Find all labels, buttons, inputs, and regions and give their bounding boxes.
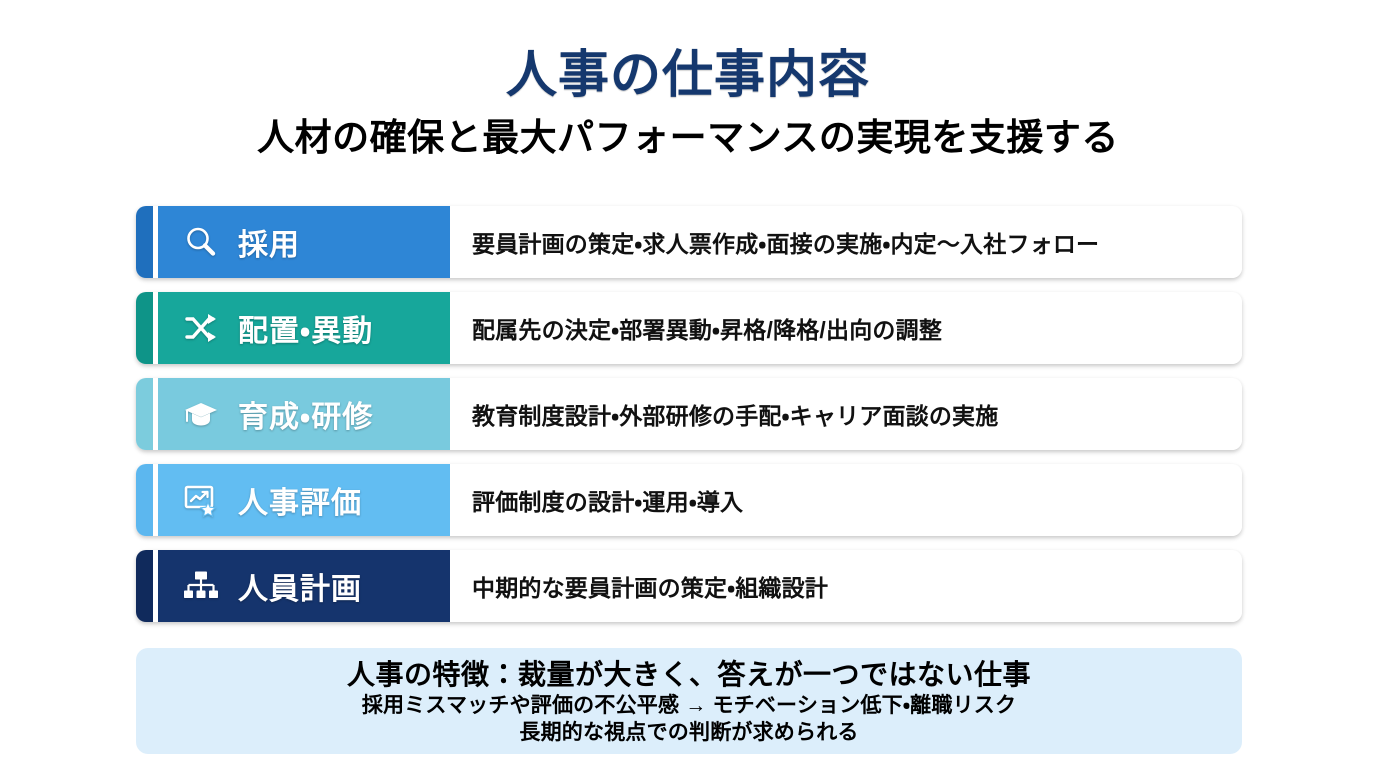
summary-callout: 人事の特徴：裁量が大きく、答えが一つではない仕事 採用ミスマッチや評価の不公平感… bbox=[136, 648, 1242, 754]
shuffle-icon bbox=[182, 309, 220, 347]
org-chart-icon bbox=[182, 567, 220, 605]
row-label-block: 採用 bbox=[158, 206, 450, 278]
row-accent-bar bbox=[136, 378, 153, 450]
row-label-block: 配置・異動 bbox=[158, 292, 450, 364]
duty-row-evaluation[interactable]: 人事評価 評価制度の設計・運用・導入 bbox=[136, 464, 1242, 536]
row-accent-bar bbox=[136, 550, 153, 622]
row-label-block: 人事評価 bbox=[158, 464, 450, 536]
duty-row-placement[interactable]: 配置・異動 配属先の決定・部署異動・昇格/降格/出向の調整 bbox=[136, 292, 1242, 364]
row-description: 要員計画の策定・求人票作成・面接の実施・内定〜入社フォロー bbox=[450, 206, 1242, 278]
page-subtitle: 人材の確保と最大パフォーマンスの実現を支援する bbox=[0, 103, 1376, 160]
row-accent-bar bbox=[136, 464, 153, 536]
row-description: 教育制度設計・外部研修の手配・キャリア面談の実施 bbox=[450, 378, 1242, 450]
page-title: 人事の仕事内容 bbox=[0, 0, 1376, 103]
row-label-text: 育成・研修 bbox=[238, 392, 373, 436]
slide-root: 人事の仕事内容 人材の確保と最大パフォーマンスの実現を支援する 採用 要員計画の… bbox=[0, 0, 1376, 768]
callout-title: 人事の特徴：裁量が大きく、答えが一つではない仕事 bbox=[136, 657, 1242, 692]
row-label-text: 配置・異動 bbox=[238, 306, 373, 350]
duty-row-headcount-plan[interactable]: 人員計画 中期的な要員計画の策定・組織設計 bbox=[136, 550, 1242, 622]
row-label-text: 人員計画 bbox=[238, 564, 362, 608]
row-description: 配属先の決定・部署異動・昇格/降格/出向の調整 bbox=[450, 292, 1242, 364]
chart-star-icon bbox=[182, 481, 220, 519]
graduation-cap-icon bbox=[182, 395, 220, 433]
row-label-block: 育成・研修 bbox=[158, 378, 450, 450]
search-icon bbox=[182, 223, 220, 261]
duty-list: 採用 要員計画の策定・求人票作成・面接の実施・内定〜入社フォロー 配置・異動 bbox=[136, 206, 1242, 636]
row-description: 中期的な要員計画の策定・組織設計 bbox=[450, 550, 1242, 622]
duty-row-recruitment[interactable]: 採用 要員計画の策定・求人票作成・面接の実施・内定〜入社フォロー bbox=[136, 206, 1242, 278]
row-label-text: 人事評価 bbox=[238, 478, 362, 522]
row-label-text: 採用 bbox=[238, 220, 300, 264]
row-accent-bar bbox=[136, 206, 153, 278]
duty-row-training[interactable]: 育成・研修 教育制度設計・外部研修の手配・キャリア面談の実施 bbox=[136, 378, 1242, 450]
row-description: 評価制度の設計・運用・導入 bbox=[450, 464, 1242, 536]
row-label-block: 人員計画 bbox=[158, 550, 450, 622]
callout-line-1: 採用ミスマッチや評価の不公平感 → モチベーション低下・離職リスク bbox=[136, 692, 1242, 719]
row-accent-bar bbox=[136, 292, 153, 364]
callout-line-2: 長期的な視点での判断が求められる bbox=[136, 719, 1242, 746]
